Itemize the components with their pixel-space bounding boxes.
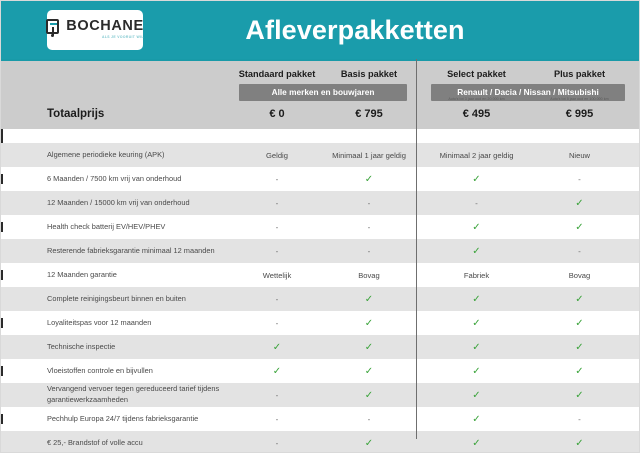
feature-table-body: Algemene periodieke keuring (APK)GeldigM… (1, 129, 639, 453)
row-label: Vloeistoffen controle en bijvullen (1, 366, 231, 377)
cell-check: ✓ (425, 174, 528, 185)
subnote-select: Auto's tot 3 jaar oud en 20.000 km (425, 98, 528, 102)
cell-dash: - (528, 175, 631, 184)
cell-check: ✓ (323, 294, 415, 305)
cell-check: ✓ (528, 366, 631, 377)
table-row: 12 Maanden garantieWettelijkBovagFabriek… (1, 263, 639, 287)
cell-check: ✓ (231, 342, 323, 353)
cell-dash: - (231, 247, 323, 256)
cell-check: ✓ (528, 222, 631, 233)
cell-check: ✓ (323, 174, 415, 185)
cell-text: Nieuw (528, 151, 631, 160)
price-select: € 495 (425, 108, 528, 120)
cell-dash: - (231, 415, 323, 424)
cell-check: ✓ (323, 318, 415, 329)
totaalprijs-label: Totaalprijs (1, 108, 231, 120)
cell-dash: - (528, 415, 631, 424)
cell-check: ✓ (425, 342, 528, 353)
table-row: Loyaliteitspas voor 12 maanden-✓✓✓ (1, 311, 639, 335)
cell-dash: - (323, 223, 415, 232)
table-top-spacer (1, 129, 639, 143)
row-label: Vervangend vervoer tegen gereduceerd tar… (1, 384, 231, 405)
row-label: Resterende fabrieksgarantie minimaal 12 … (1, 246, 231, 257)
row-label: Loyaliteitspas voor 12 maanden (1, 318, 231, 329)
table-row: Resterende fabrieksgarantie minimaal 12 … (1, 239, 639, 263)
cell-dash: - (323, 415, 415, 424)
cell-check: ✓ (425, 390, 528, 401)
cell-check: ✓ (528, 294, 631, 305)
cell-check: ✓ (528, 198, 631, 209)
cell-check: ✓ (528, 390, 631, 401)
table-row: 12 Maanden / 15000 km vrij van onderhoud… (1, 191, 639, 215)
cell-dash: - (425, 199, 528, 208)
cell-dash: - (528, 247, 631, 256)
cell-dash: - (231, 199, 323, 208)
package-name-basis: Basis pakket (323, 69, 415, 79)
cell-check: ✓ (323, 390, 415, 401)
row-label: € 25,- Brandstof of volle accu (1, 438, 231, 449)
cell-check: ✓ (425, 366, 528, 377)
table-row: Vloeistoffen controle en bijvullen✓✓✓✓ (1, 359, 639, 383)
cell-check: ✓ (528, 318, 631, 329)
price-plus: € 995 (528, 108, 631, 120)
cell-dash: - (231, 319, 323, 328)
cell-check: ✓ (528, 342, 631, 353)
cell-dash: - (231, 295, 323, 304)
package-name-standaard: Standaard pakket (231, 69, 323, 79)
table-row: Vervangend vervoer tegen gereduceerd tar… (1, 383, 639, 407)
cell-check: ✓ (323, 438, 415, 449)
cell-text: Minimaal 2 jaar geldig (425, 151, 528, 160)
cell-check: ✓ (231, 366, 323, 377)
table-row: Complete reinigingsbeurt binnen en buite… (1, 287, 639, 311)
cell-dash: - (231, 175, 323, 184)
row-label: Pechhulp Europa 24/7 tijdens fabrieksgar… (1, 414, 231, 425)
package-name-row: Standaard pakket Basis pakket Select pak… (1, 69, 639, 79)
table-row: Algemene periodieke keuring (APK)GeldigM… (1, 143, 639, 167)
subnote-plus: Auto's tot 5 jaar oud en 100.000 km (528, 98, 631, 102)
cell-text: Bovag (528, 271, 631, 280)
cell-check: ✓ (323, 366, 415, 377)
cell-check: ✓ (425, 438, 528, 449)
package-name-select: Select pakket (425, 69, 528, 79)
cell-text: Geldig (231, 151, 323, 160)
row-label: Complete reinigingsbeurt binnen en buite… (1, 294, 231, 305)
cell-dash: - (323, 199, 415, 208)
table-row: Pechhulp Europa 24/7 tijdens fabrieksgar… (1, 407, 639, 431)
cell-dash: - (323, 247, 415, 256)
cell-dash: - (231, 223, 323, 232)
cell-dash: - (231, 391, 323, 400)
row-label: Technische inspectie (1, 342, 231, 353)
cell-check: ✓ (425, 414, 528, 425)
price-standaard: € 0 (231, 108, 323, 120)
cell-text: Wettelijk (231, 271, 323, 280)
table-row: Health check batterij EV/HEV/PHEV--✓✓ (1, 215, 639, 239)
afleverpakketten-page: BOCHANE ALS JE VOORUIT WIL Afleverpakket… (0, 0, 640, 453)
page-title: Afleverpakketten (1, 15, 639, 46)
cell-text: Bovag (323, 271, 415, 280)
row-label: 12 Maanden / 15000 km vrij van onderhoud (1, 198, 231, 209)
column-group-divider (416, 59, 417, 439)
row-label: 12 Maanden garantie (1, 270, 231, 281)
price-row: Totaalprijs € 0 € 795 € 495 € 995 (1, 108, 639, 120)
table-row: € 25,- Brandstof of volle accu-✓✓✓ (1, 431, 639, 453)
row-label: Health check batterij EV/HEV/PHEV (1, 222, 231, 233)
table-row: 6 Maanden / 7500 km vrij van onderhoud-✓… (1, 167, 639, 191)
cell-check: ✓ (323, 342, 415, 353)
package-name-plus: Plus pakket (528, 69, 631, 79)
cell-dash: - (231, 439, 323, 448)
cell-check: ✓ (425, 246, 528, 257)
cell-check: ✓ (528, 438, 631, 449)
cell-check: ✓ (425, 222, 528, 233)
cell-text: Fabriek (425, 271, 528, 280)
cell-text: Minimaal 1 jaar geldig (323, 151, 415, 160)
price-basis: € 795 (323, 108, 415, 120)
cell-check: ✓ (425, 294, 528, 305)
row-label: Algemene periodieke keuring (APK) (1, 150, 231, 161)
row-label: 6 Maanden / 7500 km vrij van onderhoud (1, 174, 231, 185)
table-row: Technische inspectie✓✓✓✓ (1, 335, 639, 359)
page-header: BOCHANE ALS JE VOORUIT WIL Afleverpakket… (1, 1, 639, 59)
package-subnote-row: Auto's tot 3 jaar oud en 20.000 km Auto'… (1, 98, 639, 102)
cell-check: ✓ (425, 318, 528, 329)
column-header-band: Standaard pakket Basis pakket Select pak… (1, 59, 639, 129)
